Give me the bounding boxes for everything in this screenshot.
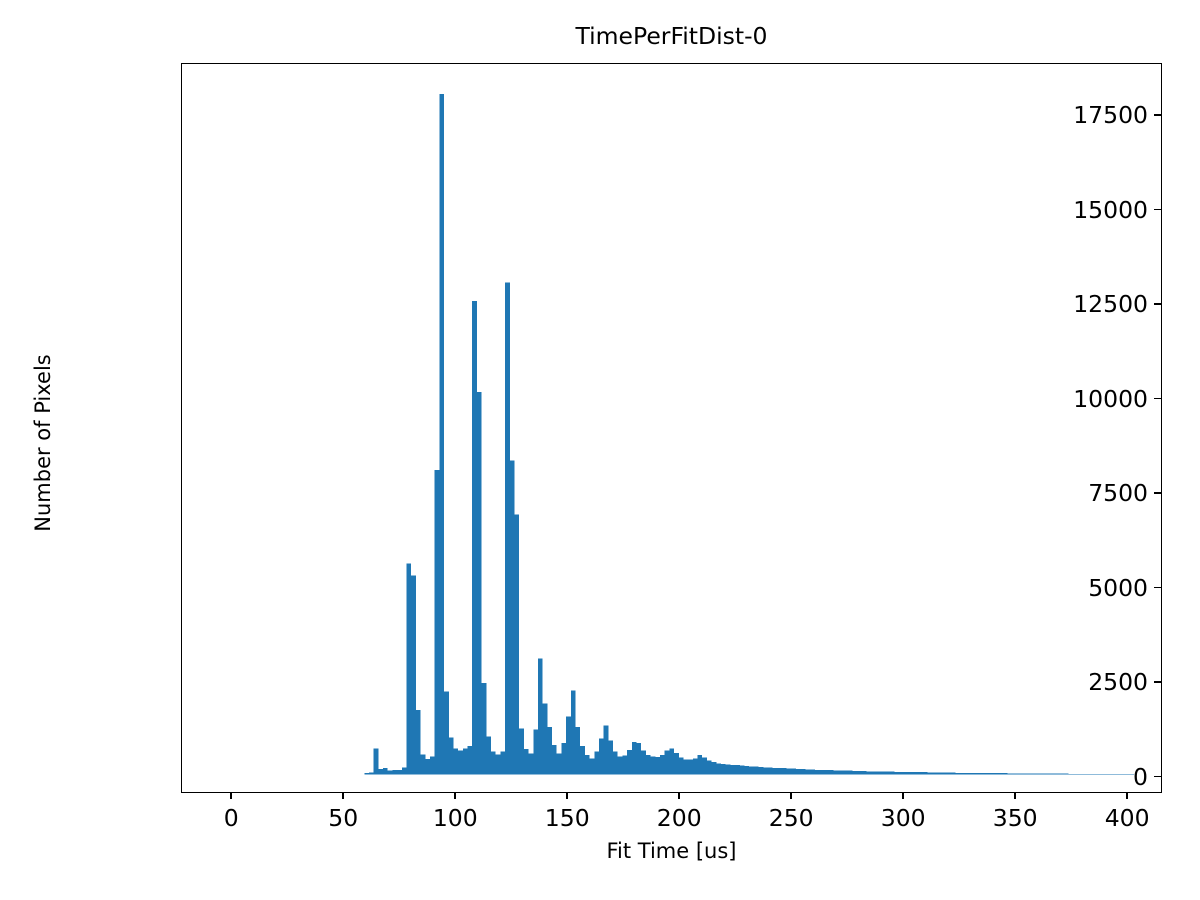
x-tick-label: 50 <box>328 803 358 833</box>
x-tick-mark <box>230 792 232 799</box>
histogram-bars <box>182 64 1161 792</box>
x-tick-label: 400 <box>1105 803 1150 833</box>
matplotlib-figure: TimePerFitDist-0 02500500075001000012500… <box>0 0 1200 900</box>
x-tick-mark <box>902 792 904 799</box>
y-axis-label: Number of Pixels <box>28 78 58 808</box>
x-tick-mark <box>566 792 568 799</box>
x-tick-mark <box>454 792 456 799</box>
x-tick-mark <box>1126 792 1128 799</box>
x-tick-label: 250 <box>769 803 814 833</box>
x-tick-label: 350 <box>993 803 1038 833</box>
x-tick-label: 200 <box>657 803 702 833</box>
x-tick-label: 150 <box>545 803 590 833</box>
chart-title: TimePerFitDist-0 <box>181 22 1162 50</box>
x-tick-mark <box>790 792 792 799</box>
plot-axes: 025005000750010000125001500017500 050100… <box>181 63 1162 793</box>
x-tick-mark <box>342 792 344 799</box>
x-axis-label: Fit Time [us] <box>181 838 1162 864</box>
x-tick-label: 100 <box>433 803 478 833</box>
x-tick-label: 0 <box>224 803 239 833</box>
x-tick-mark <box>1014 792 1016 799</box>
plot-area <box>182 64 1161 792</box>
x-tick-label: 300 <box>881 803 926 833</box>
x-tick-mark <box>678 792 680 799</box>
